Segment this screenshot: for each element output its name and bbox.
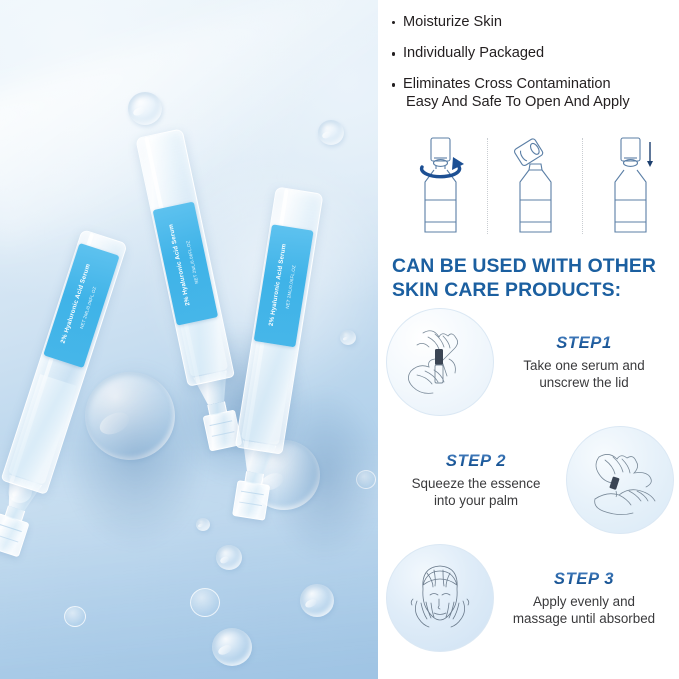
bottle-press-down-icon bbox=[588, 134, 672, 238]
step-3-label: STEP 3 bbox=[498, 569, 670, 589]
diagram-divider bbox=[487, 138, 488, 234]
bullet-dot-icon bbox=[392, 52, 395, 55]
step-1-label: STEP1 bbox=[498, 333, 670, 353]
water-ring bbox=[190, 588, 220, 617]
benefit-item: Individually Packaged bbox=[392, 45, 677, 62]
step-1-body-line1: Take one serum and bbox=[498, 358, 670, 374]
step-3-body-line1: Apply evenly and bbox=[498, 594, 670, 610]
ampoule-label-line2: NET 2ML/0.06FL.OZ bbox=[285, 265, 297, 309]
usage-step-2: STEP 2 Squeeze the essence into your pal… bbox=[386, 424, 674, 536]
bottle-cap-removed-icon bbox=[493, 134, 577, 238]
step-2-label: STEP 2 bbox=[390, 451, 562, 471]
ampoule-cap bbox=[232, 480, 270, 521]
ampoule-label-line1: 2% Hyaluronic Acid Serum bbox=[167, 223, 191, 306]
benefit-text-line2: Easy And Safe To Open And Apply bbox=[403, 94, 677, 111]
hand-squeezing-into-palm-icon bbox=[567, 427, 673, 533]
water-droplet bbox=[318, 120, 344, 145]
how-to-open-step-press bbox=[588, 134, 672, 238]
step-2-body: Squeeze the essence into your palm bbox=[390, 476, 562, 508]
benefit-text: Eliminates Cross Contamination bbox=[403, 76, 611, 92]
step-1-illustration bbox=[386, 308, 494, 416]
usage-step-1: STEP1 Take one serum and unscrew the lid bbox=[386, 306, 674, 418]
benefit-text: Moisturize Skin bbox=[403, 14, 502, 30]
diagram-divider bbox=[582, 138, 583, 234]
bullet-dot-icon bbox=[392, 21, 395, 24]
heading-line2: SKIN CARE PRODUCTS: bbox=[392, 278, 674, 302]
step-2-body-line2: into your palm bbox=[390, 493, 562, 509]
how-to-open-step-twist bbox=[398, 134, 482, 238]
step-1-body-line2: unscrew the lid bbox=[498, 375, 670, 391]
ampoule-label-line1: 2% Hyaluronic Acid Serum bbox=[268, 243, 288, 326]
how-to-open-step-remove bbox=[493, 134, 577, 238]
hands-unscrewing-ampoule-icon bbox=[387, 309, 493, 415]
water-ring bbox=[64, 606, 86, 627]
benefit-text: Individually Packaged bbox=[403, 45, 544, 61]
step-3-body-line2: massage until absorbed bbox=[498, 611, 670, 627]
water-droplet bbox=[340, 330, 356, 345]
step-3-text: STEP 3 Apply evenly and massage until ab… bbox=[494, 569, 674, 626]
usage-step-3: STEP 3 Apply evenly and massage until ab… bbox=[386, 542, 674, 654]
bullet-dot-icon bbox=[392, 83, 395, 86]
step-2-body-line1: Squeeze the essence bbox=[390, 476, 562, 492]
section-heading: CAN BE USED WITH OTHER SKIN CARE PRODUCT… bbox=[392, 254, 674, 302]
heading-line1: CAN BE USED WITH OTHER bbox=[392, 255, 656, 277]
how-to-open-diagram bbox=[398, 134, 660, 238]
bottle-twist-icon bbox=[398, 134, 482, 238]
benefit-item: Moisturize Skin bbox=[392, 14, 677, 31]
step-3-illustration bbox=[386, 544, 494, 652]
step-1-text: STEP1 Take one serum and unscrew the lid bbox=[494, 333, 674, 390]
step-1-body: Take one serum and unscrew the lid bbox=[498, 358, 670, 390]
step-2-text: STEP 2 Squeeze the essence into your pal… bbox=[386, 451, 566, 508]
product-infographic: 2% Hyaluronic Acid Serum NET 2ML/0.06FL.… bbox=[0, 0, 679, 679]
ampoule-label-line2: NET 2ML/0.06FL.OZ bbox=[185, 240, 199, 284]
benefits-list: Moisturize Skin Individually Packaged El… bbox=[392, 14, 677, 111]
benefit-item: Eliminates Cross Contamination Easy And … bbox=[392, 76, 677, 110]
product-photo: 2% Hyaluronic Acid Serum NET 2ML/0.06FL.… bbox=[0, 0, 378, 679]
step-3-body: Apply evenly and massage until absorbed bbox=[498, 594, 670, 626]
water-droplet bbox=[128, 92, 162, 125]
water-droplet bbox=[212, 628, 252, 666]
face-massage-icon bbox=[387, 545, 493, 651]
info-panel: Moisturize Skin Individually Packaged El… bbox=[378, 0, 679, 679]
step-2-illustration bbox=[566, 426, 674, 534]
